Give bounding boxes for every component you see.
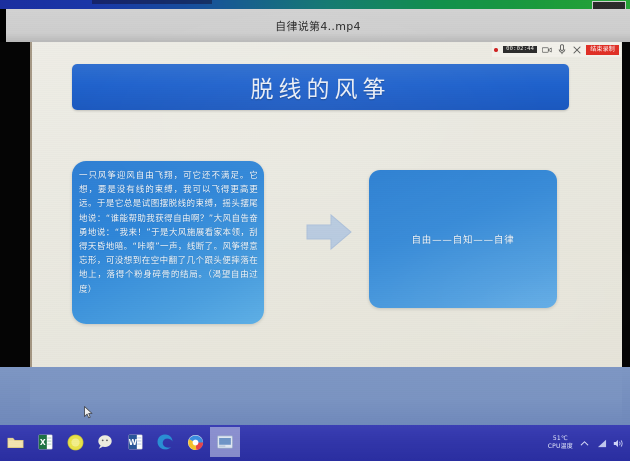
stop-recording-button[interactable]: 结束录制 bbox=[586, 45, 619, 55]
excel-icon: X bbox=[38, 434, 53, 450]
chevron-up-icon[interactable] bbox=[579, 437, 590, 449]
chat-bubble-icon bbox=[96, 434, 114, 450]
concept-textbox: 自由——自知——自律 bbox=[369, 170, 557, 308]
yellow-circle-icon bbox=[67, 434, 84, 451]
desktop-band-right bbox=[622, 367, 630, 425]
folder-icon bbox=[7, 435, 24, 450]
colorful-browser-icon bbox=[187, 434, 204, 451]
recording-toolbar[interactable]: 00:02:44 结束录制 bbox=[492, 42, 621, 57]
window-title: 自律说第4..mp4 bbox=[6, 18, 630, 34]
taskbar-item-browser[interactable] bbox=[180, 427, 210, 457]
windows-taskbar[interactable]: X bbox=[0, 425, 630, 461]
cpu-temperature-indicator[interactable]: 51℃ CPU温度 bbox=[548, 435, 573, 451]
taskbar-item-powerpoint[interactable] bbox=[210, 427, 240, 457]
background-strip-label bbox=[92, 0, 212, 4]
cpu-temperature-label: CPU温度 bbox=[548, 443, 573, 451]
edge-icon bbox=[156, 433, 174, 451]
taskbar-item-yellow-app[interactable] bbox=[60, 427, 90, 457]
record-dot-icon bbox=[494, 48, 498, 52]
taskbar-item-qq[interactable] bbox=[90, 427, 120, 457]
desktop-band bbox=[30, 367, 622, 425]
slide-title-text: 脱线的风筝 bbox=[251, 70, 391, 104]
svg-text:W: W bbox=[128, 438, 137, 447]
right-arrow-icon bbox=[306, 212, 352, 252]
taskbar-item-word[interactable]: W bbox=[120, 427, 150, 457]
recording-elapsed-time: 00:02:44 bbox=[503, 46, 537, 54]
taskbar-item-file-explorer[interactable] bbox=[0, 427, 30, 457]
webcam-icon[interactable] bbox=[541, 43, 552, 56]
monitor-screen: 自律说第4..mp4 00:02:44 结束录制 bbox=[0, 0, 630, 461]
slide-canvas-left-edge bbox=[30, 42, 32, 367]
story-text: 一只风筝迎风自由飞翔，可它还不满足。它想，要是没有线的束缚，我可以飞得更高更远。… bbox=[79, 169, 258, 297]
powerpoint-window-icon bbox=[217, 435, 233, 449]
taskbar-icon-group: X bbox=[0, 427, 240, 457]
taskbar-item-excel[interactable]: X bbox=[30, 427, 60, 457]
close-icon[interactable] bbox=[571, 43, 582, 56]
player-window-titlebar: 自律说第4..mp4 bbox=[6, 9, 630, 42]
concept-text: 自由——自知——自律 bbox=[411, 232, 514, 246]
volume-icon[interactable] bbox=[613, 437, 624, 449]
svg-text:X: X bbox=[39, 438, 45, 447]
microphone-icon[interactable] bbox=[556, 43, 567, 56]
taskbar-item-edge[interactable] bbox=[150, 427, 180, 457]
system-tray: 51℃ CPU温度 bbox=[548, 425, 628, 461]
network-icon[interactable] bbox=[596, 437, 607, 449]
background-gradient-strip bbox=[0, 0, 630, 9]
mouse-cursor bbox=[84, 404, 93, 417]
slide-title-banner: 脱线的风筝 bbox=[72, 64, 569, 110]
word-icon: W bbox=[128, 434, 143, 450]
cpu-temperature-value: 51℃ bbox=[548, 435, 573, 443]
story-textbox: 一只风筝迎风自由飞翔，可它还不满足。它想，要是没有线的束缚，我可以飞得更高更远。… bbox=[72, 161, 264, 324]
desktop-band-left bbox=[0, 367, 30, 425]
